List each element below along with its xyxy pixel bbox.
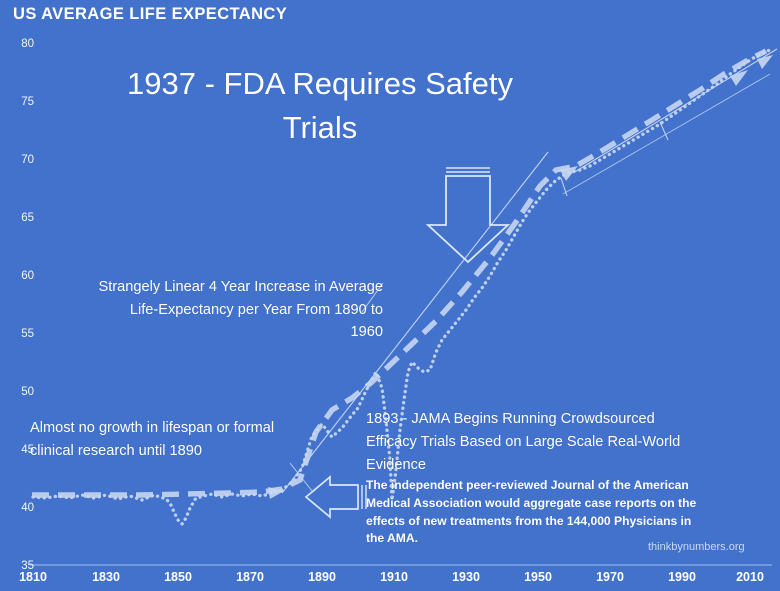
callout-left-arrow-icon	[306, 477, 366, 517]
y-axis-tick: 75	[8, 96, 34, 108]
x-axis-tick: 1910	[380, 570, 408, 584]
x-axis-tick: 1810	[19, 570, 47, 584]
annotation-jama-title: 1893 - JAMA Begins Running Crowdsourced …	[366, 408, 696, 476]
watermark: thinkbynumbers.org	[648, 541, 745, 553]
x-axis-tick: 1890	[308, 570, 336, 584]
y-axis-tick: 80	[8, 38, 34, 50]
trendline-1960-2015	[573, 49, 777, 173]
x-axis-tick: 1830	[92, 570, 120, 584]
x-axis-tick: 1870	[236, 570, 264, 584]
y-axis-tick: 70	[8, 154, 34, 166]
x-axis-tick: 1950	[524, 570, 552, 584]
x-axis-tick: 2010	[736, 570, 764, 584]
annotation-jama-body: The independent peer-reviewed Journal of…	[366, 477, 702, 548]
leader-line-no-growth	[290, 463, 312, 491]
y-axis-tick: 65	[8, 212, 34, 224]
bracket-bottom	[563, 74, 770, 194]
annotation-linear-increase: Strangely Linear 4 Year Increase in Aver…	[95, 276, 383, 344]
x-axis-tick: 1930	[452, 570, 480, 584]
x-axis-tick: 1990	[668, 570, 696, 584]
chart-container: US AVERAGE LIFE EXPECTANCY	[0, 0, 780, 591]
x-axis-tick: 1850	[164, 570, 192, 584]
annotation-no-growth: Almost no growth in lifespan or formal c…	[30, 417, 292, 462]
y-axis-tick: 40	[8, 502, 34, 514]
annotation-fda-safety-trials: 1937 - FDA Requires Safety Trials	[120, 62, 520, 150]
x-axis-tick: 1970	[596, 570, 624, 584]
y-axis-tick: 55	[8, 328, 34, 340]
y-axis-tick: 50	[8, 386, 34, 398]
y-axis-tick: 60	[8, 270, 34, 282]
